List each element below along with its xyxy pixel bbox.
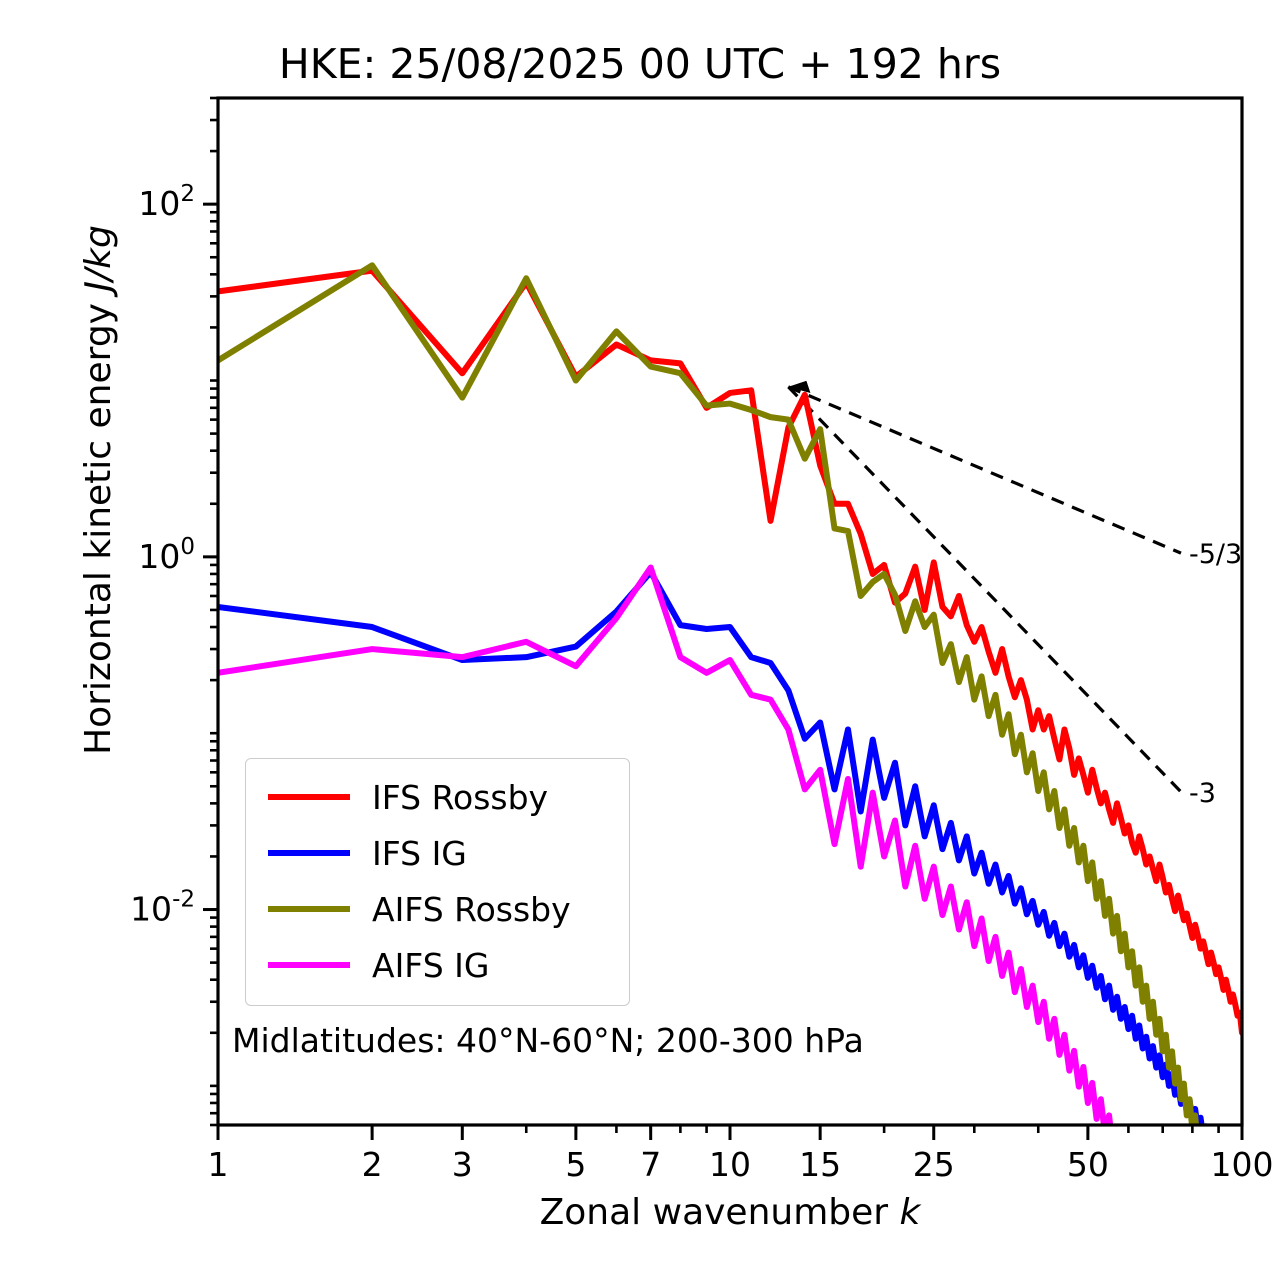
legend-label: AIFS Rossby	[372, 893, 571, 926]
x-tick-label: 15	[799, 1145, 841, 1184]
legend-item-ifs-ig[interactable]: IFS IG	[246, 825, 629, 881]
x-tick-label: 3	[452, 1145, 473, 1184]
legend: IFS RossbyIFS IGAIFS RossbyAIFS IG	[245, 758, 630, 1006]
y-tick-label: 100	[138, 534, 195, 576]
legend-label: IFS Rossby	[372, 781, 548, 814]
reference-line-label: -5/3	[1189, 539, 1242, 570]
plot-area: 123571015255010010210010-2-5/3-3	[0, 0, 1280, 1288]
legend-label: AIFS IG	[372, 949, 489, 982]
legend-item-aifs-rossby[interactable]: AIFS Rossby	[246, 881, 629, 937]
legend-label: IFS IG	[372, 837, 467, 870]
x-axis-label-units: k	[900, 1192, 921, 1233]
legend-swatch	[268, 850, 350, 856]
x-tick-label: 5	[565, 1145, 586, 1184]
legend-swatch	[268, 794, 350, 800]
region-annotation: Midlatitudes: 40°N-60°N; 200-300 hPa	[232, 1021, 864, 1060]
y-tick-label: 102	[138, 181, 195, 223]
legend-swatch	[268, 962, 350, 968]
reference-line-label: -3	[1189, 778, 1216, 809]
y-tick-label: 10-2	[130, 887, 195, 929]
x-tick-label: 1	[208, 1145, 229, 1184]
x-tick-label: 100	[1211, 1145, 1274, 1184]
x-tick-label: 7	[640, 1145, 661, 1184]
legend-item-aifs-ig[interactable]: AIFS IG	[246, 937, 629, 993]
legend-swatch	[268, 906, 350, 912]
x-axis-label: Zonal wavenumber k	[218, 1192, 1242, 1233]
figure-canvas: HKE: 25/08/2025 00 UTC + 192 hrs Horizon…	[0, 0, 1280, 1288]
x-tick-label: 2	[362, 1145, 383, 1184]
x-tick-label: 10	[709, 1145, 751, 1184]
x-axis-label-text: Zonal wavenumber	[540, 1192, 900, 1233]
x-tick-label: 25	[913, 1145, 955, 1184]
x-tick-label: 50	[1067, 1145, 1109, 1184]
legend-item-ifs-rossby[interactable]: IFS Rossby	[246, 769, 629, 825]
